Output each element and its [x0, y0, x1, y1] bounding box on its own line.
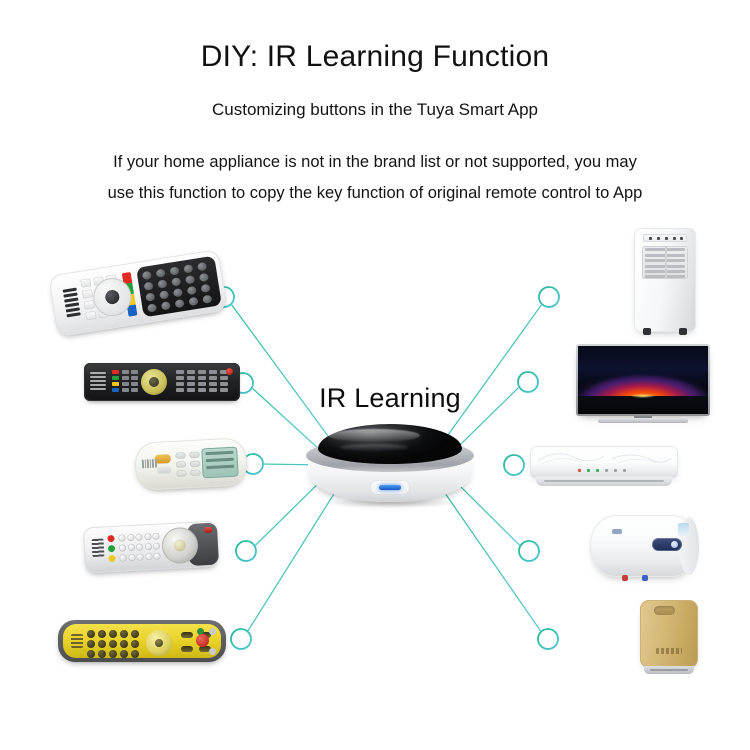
remote-key	[127, 534, 134, 541]
remote-key	[131, 388, 138, 392]
remote-key	[199, 273, 209, 282]
brand-label	[656, 648, 682, 654]
appliance-body	[634, 228, 696, 332]
remote-key	[209, 376, 217, 380]
remote-key	[131, 370, 138, 374]
connector-line	[248, 488, 338, 631]
device-air-purifier[interactable]	[640, 600, 698, 676]
remote-key	[120, 640, 128, 648]
remote-color-key	[112, 382, 119, 386]
remote-key	[175, 299, 185, 308]
remote-key	[144, 543, 151, 550]
remote-key	[198, 370, 206, 374]
remote-key	[181, 646, 193, 652]
hub-dome-highlight-secondary	[340, 444, 408, 451]
remote-color-key	[112, 388, 119, 392]
remote-key	[131, 640, 139, 648]
remote-key	[128, 554, 135, 561]
remote-key	[183, 264, 193, 273]
remote-key	[220, 376, 228, 380]
device-remote-silver[interactable]	[83, 521, 219, 574]
remote-power-button	[204, 527, 212, 533]
tv-bezel	[576, 344, 710, 416]
remote-key	[209, 388, 217, 392]
remote-key	[198, 382, 206, 386]
inlet-pipe	[622, 575, 628, 581]
top-handle	[654, 606, 675, 615]
remote-color-key	[112, 370, 119, 374]
remote-key	[122, 388, 129, 392]
remote-key	[171, 277, 181, 286]
indicator-lights	[578, 468, 630, 473]
remote-key	[159, 290, 169, 299]
remote-key	[142, 271, 152, 280]
remote-key	[209, 370, 217, 374]
remote-key	[145, 553, 152, 560]
device-remote-yellow[interactable]	[58, 620, 226, 662]
remote-key	[82, 289, 93, 298]
remote-key	[187, 286, 197, 295]
remote-key	[80, 278, 91, 287]
control-panel	[643, 234, 687, 242]
remote-key	[220, 388, 228, 392]
remote-key	[98, 640, 106, 648]
remote-key	[120, 650, 128, 658]
remote-key	[109, 630, 117, 638]
device-television[interactable]	[576, 344, 710, 428]
remote-key	[87, 640, 95, 648]
remote-key	[176, 461, 186, 468]
remote-key	[176, 388, 184, 392]
brand-logo	[612, 529, 622, 534]
ir-hub-device[interactable]	[300, 424, 480, 506]
remote-logo-bar	[90, 388, 106, 390]
device-split-ac[interactable]	[530, 446, 678, 490]
remote-power-button	[226, 368, 233, 375]
remote-key	[175, 452, 185, 459]
remote-key	[122, 376, 129, 380]
device-water-heater[interactable]	[590, 515, 698, 577]
remote-key	[147, 303, 157, 312]
air-vent-louver	[536, 476, 672, 486]
remote-key	[98, 630, 106, 638]
remote-function-key	[209, 628, 216, 635]
device-portable-ac[interactable]	[634, 228, 696, 332]
remote-key	[161, 301, 171, 310]
remote-key	[176, 370, 184, 374]
remote-key	[198, 388, 206, 392]
floral-decoration	[534, 449, 674, 467]
node-remote-yellow[interactable]	[231, 629, 251, 649]
remote-logo-bar	[90, 376, 106, 378]
diagram-canvas: DIY: IR Learning Function Customizing bu…	[0, 0, 750, 750]
caster-wheel-right	[679, 328, 687, 335]
node-remote-silver[interactable]	[236, 541, 256, 561]
remote-key	[220, 382, 228, 386]
node-portable-ac[interactable]	[539, 287, 559, 307]
hub-label: IR Learning	[300, 383, 480, 414]
tv-stand-base	[598, 418, 688, 423]
remote-key	[185, 275, 195, 284]
remote-key	[144, 533, 151, 540]
remote-key	[209, 382, 217, 386]
remote-key	[198, 376, 206, 380]
remote-key	[187, 376, 195, 380]
remote-key	[201, 284, 211, 293]
remote-key	[156, 269, 166, 278]
node-television[interactable]	[518, 372, 538, 392]
remote-key	[176, 470, 186, 477]
remote-key	[202, 295, 212, 304]
remote-logo-bar	[90, 380, 106, 382]
remote-key	[85, 311, 96, 320]
node-air-purifier[interactable]	[538, 629, 558, 649]
remote-key	[127, 544, 134, 551]
remote-key	[169, 266, 179, 275]
remote-key	[120, 630, 128, 638]
appliance-body	[640, 600, 698, 668]
outlet-pipe	[642, 575, 648, 581]
hub-dome-highlight	[328, 429, 420, 442]
energy-label	[678, 523, 689, 536]
remote-key	[157, 279, 167, 288]
node-water-heater[interactable]	[519, 541, 539, 561]
remote-color-key	[112, 376, 119, 380]
device-remote-black[interactable]	[84, 363, 240, 401]
remote-key	[109, 650, 117, 658]
remote-logo-strip	[90, 372, 106, 392]
remote-key	[188, 297, 198, 306]
remote-key	[197, 262, 207, 271]
appliance-body	[530, 446, 678, 478]
remote-key	[187, 388, 195, 392]
remote-key	[187, 370, 195, 374]
remote-dpad-center	[155, 639, 163, 647]
tv-screen	[578, 346, 708, 414]
remote-key	[190, 461, 200, 468]
remote-power-button	[154, 454, 170, 464]
remote-key	[176, 382, 184, 386]
remote-key	[131, 382, 138, 386]
tv-scene-landscape	[578, 396, 708, 414]
remote-key	[98, 650, 106, 658]
caster-wheel-left	[643, 328, 651, 335]
remote-key	[87, 630, 95, 638]
device-remote-ac[interactable]	[134, 437, 248, 491]
remote-key	[189, 452, 199, 459]
remote-function-key	[209, 648, 216, 655]
remote-key	[190, 470, 200, 477]
air-vent-grille	[642, 246, 688, 279]
remote-key	[131, 376, 138, 380]
remote-key	[131, 630, 139, 638]
remote-key	[109, 640, 117, 648]
remote-speaker-grille	[92, 538, 105, 557]
remote-key	[122, 370, 129, 374]
hub-status-led	[379, 485, 401, 490]
remote-lcd-display	[201, 447, 239, 479]
remote-key	[87, 650, 95, 658]
remote-key	[176, 376, 184, 380]
remote-key	[122, 382, 129, 386]
node-split-ac[interactable]	[504, 455, 524, 475]
remote-key	[144, 282, 154, 291]
remote-key	[173, 288, 183, 297]
remote-key	[181, 632, 193, 638]
remote-mode-key	[157, 466, 171, 474]
remote-record-button	[196, 634, 209, 647]
remote-dpad	[141, 369, 167, 395]
appliance-base	[644, 666, 694, 674]
remote-logo-bar	[90, 372, 106, 374]
remote-key	[187, 382, 195, 386]
control-panel	[652, 538, 682, 551]
remote-key	[145, 292, 155, 301]
remote-logo-bar	[90, 384, 106, 386]
remote-key	[131, 650, 139, 658]
remote-logo-strip	[71, 634, 83, 648]
